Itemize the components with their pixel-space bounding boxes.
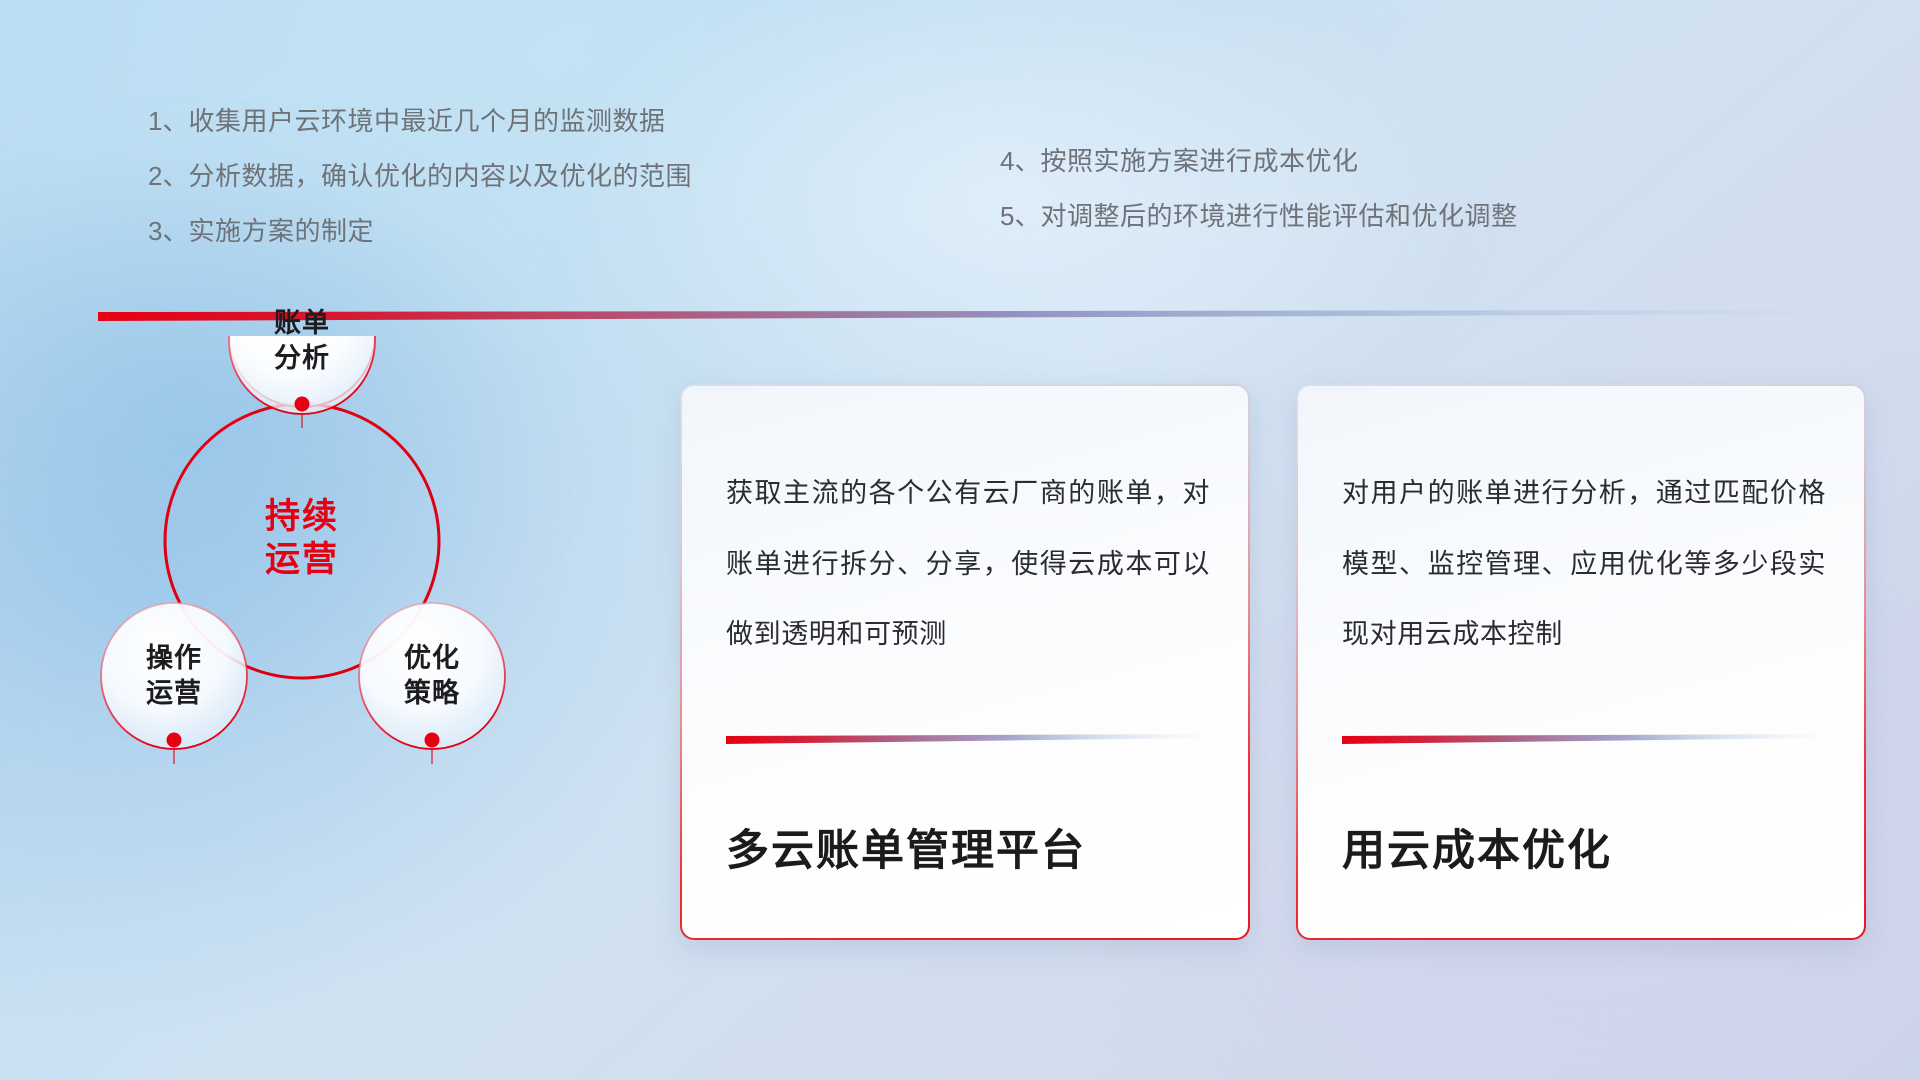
step-text: 对调整后的环境进行性能评估和优化调整 (1040, 201, 1517, 231)
step-item: 4、按照实施方案进行成本优化 (1000, 148, 1517, 174)
step-text: 按照实施方案进行成本优化 (1040, 146, 1358, 176)
connector-dot-bottom-right (425, 733, 440, 748)
info-card-body: 对用户的账单进行分析，通过匹配价格模型、监控管理、应用优化等多少段实现对用云成本… (1342, 458, 1826, 670)
bubble-label-line1: 账单 (228, 306, 376, 341)
slide-canvas: 1、收集用户云环境中最近几个月的监测数据 2、分析数据，确认优化的内容以及优化的… (0, 0, 1920, 1080)
info-card-inner: 获取主流的各个公有云厂商的账单，对账单进行拆分、分享，使得云成本可以做到透明和可… (682, 386, 1248, 938)
steps-right-column: 4、按照实施方案进行成本优化 5、对调整后的环境进行性能评估和优化调整 (1000, 148, 1517, 258)
card-divider (1342, 734, 1820, 745)
bubble-label-line2: 分析 (228, 341, 376, 376)
step-number: 3、 (148, 216, 188, 246)
step-item: 1、收集用户云环境中最近几个月的监测数据 (148, 108, 692, 134)
step-number: 2、 (148, 161, 188, 191)
cycle-diagram-graphic (96, 336, 626, 936)
bubble-label-line1: 优化 (358, 641, 506, 676)
bubble-label-line2: 策略 (358, 676, 506, 711)
step-item: 2、分析数据，确认优化的内容以及优化的范围 (148, 163, 692, 189)
cycle-diagram: 账单 分析 操作 运营 优化 策略 持续 运营 (96, 336, 626, 936)
info-card-title: 用云成本优化 (1342, 816, 1612, 878)
info-card-cloud-cost-optimization[interactable]: 对用户的账单进行分析，通过匹配价格模型、监控管理、应用优化等多少段实现对用云成本… (1296, 384, 1866, 940)
step-text: 收集用户云环境中最近几个月的监测数据 (188, 106, 665, 136)
bubble-label-bottom-right: 优化 策略 (358, 641, 506, 710)
step-number: 1、 (148, 106, 188, 136)
bubble-label-bottom-left: 操作 运营 (100, 641, 248, 710)
step-text: 分析数据，确认优化的内容以及优化的范围 (188, 161, 692, 191)
center-label-line2: 运营 (222, 539, 382, 582)
info-card-body: 获取主流的各个公有云厂商的账单，对账单进行拆分、分享，使得云成本可以做到透明和可… (726, 458, 1210, 670)
step-item: 5、对调整后的环境进行性能评估和优化调整 (1000, 203, 1517, 229)
info-card-inner: 对用户的账单进行分析，通过匹配价格模型、监控管理、应用优化等多少段实现对用云成本… (1298, 386, 1864, 938)
cycle-center-label: 持续 运营 (222, 496, 382, 581)
center-label-line1: 持续 (222, 496, 382, 539)
connector-dot-bottom-left (167, 733, 182, 748)
connector-dot-top (295, 397, 310, 412)
steps-left-column: 1、收集用户云环境中最近几个月的监测数据 2、分析数据，确认优化的内容以及优化的… (148, 108, 692, 273)
info-card-multicloud-billing[interactable]: 获取主流的各个公有云厂商的账单，对账单进行拆分、分享，使得云成本可以做到透明和可… (680, 384, 1250, 940)
info-card-title: 多云账单管理平台 (726, 816, 1086, 878)
bubble-label-line1: 操作 (100, 641, 248, 676)
step-number: 4、 (1000, 146, 1040, 176)
step-number: 5、 (1000, 201, 1040, 231)
step-item: 3、实施方案的制定 (148, 218, 692, 244)
bubble-label-top: 账单 分析 (228, 306, 376, 375)
step-text: 实施方案的制定 (188, 216, 374, 246)
bubble-label-line2: 运营 (100, 676, 248, 711)
card-divider (726, 734, 1204, 745)
